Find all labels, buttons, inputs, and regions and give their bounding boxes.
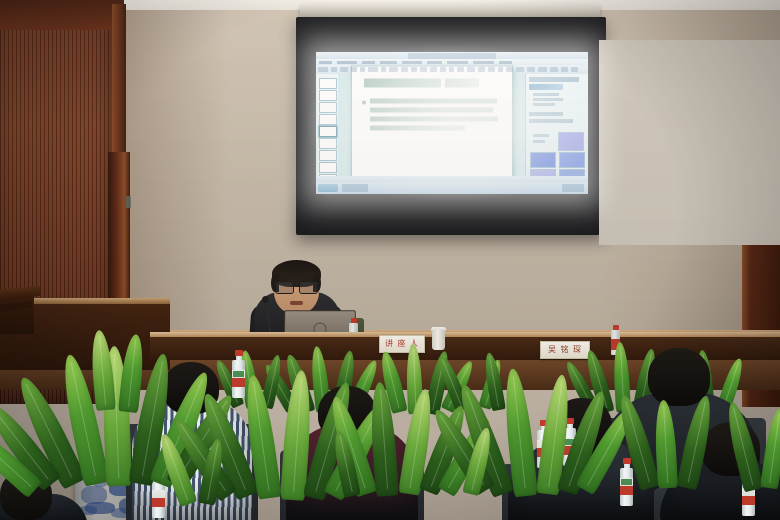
audience-member-head bbox=[0, 470, 52, 520]
audience-member-head bbox=[318, 386, 376, 440]
audience-member-torso bbox=[132, 398, 252, 520]
lecture-hall-photo: Projector Screen bbox=[0, 0, 780, 520]
audience-member-head bbox=[163, 362, 219, 414]
audience-member-head bbox=[648, 348, 710, 406]
audience-member-head bbox=[552, 398, 612, 454]
